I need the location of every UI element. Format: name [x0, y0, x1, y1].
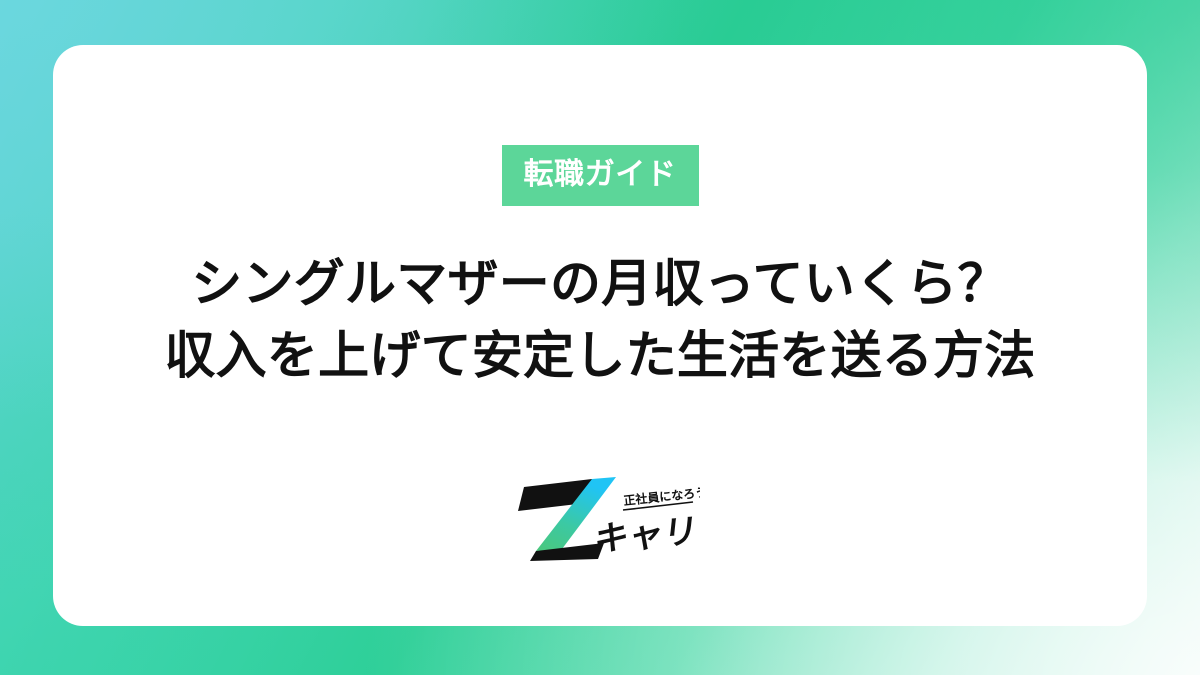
page-title-line-2: 収入を上げて安定した生活を送る方法 — [164, 320, 1035, 392]
page-title-line-1: シングルマザーの月収っていくら？ — [164, 248, 1035, 320]
content-card: 転職ガイド シングルマザーの月収っていくら？ 収入を上げて安定した生活を送る方法 — [53, 45, 1147, 626]
category-badge: 転職ガイド — [502, 145, 699, 206]
page-title: シングルマザーの月収っていくら？ 収入を上げて安定した生活を送る方法 — [164, 248, 1035, 393]
logo-tagline-text: 正社員になろうZ！ — [623, 482, 700, 508]
page-backdrop: 転職ガイド シングルマザーの月収っていくら？ 収入を上げて安定した生活を送る方法 — [0, 0, 1200, 675]
zcareer-logo: 正社員になろうZ！ キャリア — [500, 475, 700, 561]
zcareer-logo-svg: 正社員になろうZ！ キャリア — [500, 475, 700, 561]
logo-wordmark-text: キャリア — [592, 510, 700, 559]
logo-tagline-group: 正社員になろうZ！ — [623, 482, 700, 510]
